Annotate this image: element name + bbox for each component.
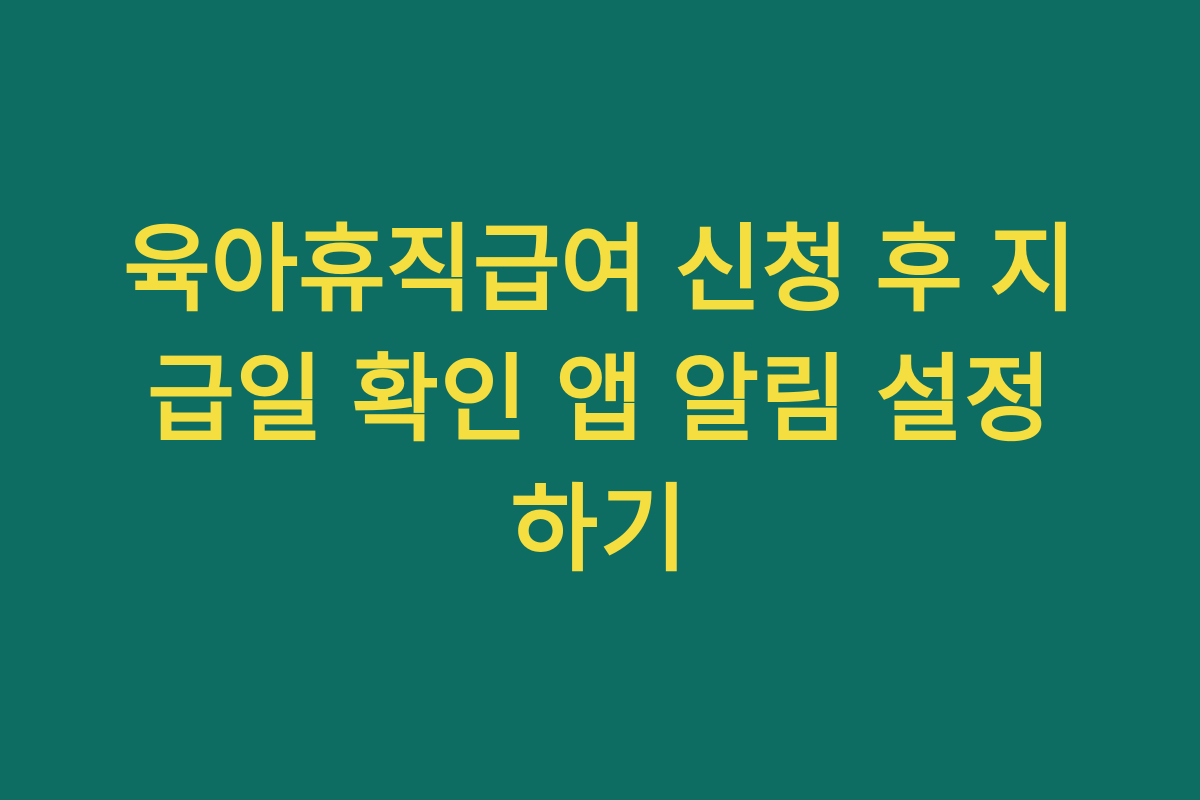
title-line-2: 급일 확인 앱 알림 설정	[80, 335, 1120, 465]
title-line-3: 하기	[80, 465, 1120, 595]
title-line-1: 육아휴직급여 신청 후 지	[80, 205, 1120, 335]
banner-canvas: 육아휴직급여 신청 후 지 급일 확인 앱 알림 설정 하기	[0, 0, 1200, 800]
page-title: 육아휴직급여 신청 후 지 급일 확인 앱 알림 설정 하기	[80, 205, 1120, 595]
